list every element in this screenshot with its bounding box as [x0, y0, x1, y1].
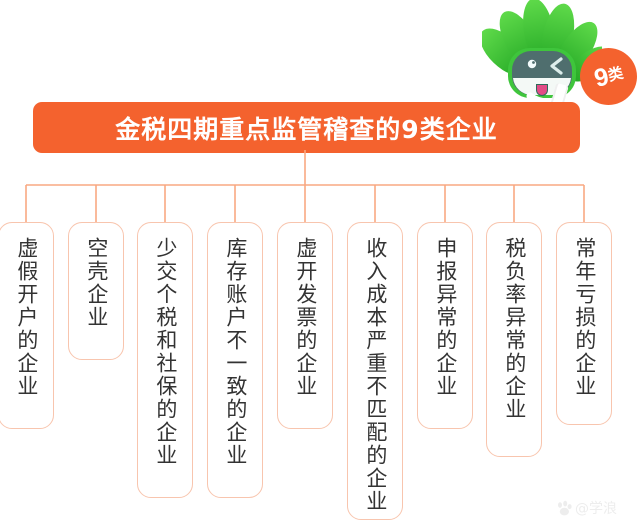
node-box-6[interactable]: 收入成本严重不匹配的企业 [347, 222, 403, 520]
page-title-bar: 金税四期重点监管稽查的9类企业 [33, 102, 580, 153]
paw-logo-icon [556, 500, 573, 517]
node-box-9[interactable]: 常年亏损的企业 [556, 222, 612, 425]
badge-9-categories: 9 类 [574, 42, 640, 111]
node-label-7: 申报异常的企业 [431, 237, 459, 398]
node-box-5[interactable]: 虚开发票的企业 [277, 222, 333, 429]
node-box-3[interactable]: 少交个税和社保的企业 [137, 222, 193, 498]
node-label-9: 常年亏损的企业 [570, 237, 598, 398]
node-label-6: 收入成本严重不匹配的企业 [361, 237, 389, 513]
node-label-2: 空壳企业 [82, 237, 110, 329]
node-box-2[interactable]: 空壳企业 [68, 222, 124, 360]
node-box-8[interactable]: 税负率异常的企业 [486, 222, 542, 457]
node-label-5: 虚开发票的企业 [291, 237, 319, 398]
watermark-text: @学浪 [575, 498, 617, 518]
watermark: @学浪 [556, 498, 632, 518]
node-label-4: 库存账户不一致的企业 [221, 237, 249, 467]
badge-unit: 类 [607, 66, 624, 84]
node-label-3: 少交个税和社保的企业 [151, 237, 179, 467]
connector-lines [0, 150, 640, 230]
infographic-canvas: 9 类 金税四期重点监管稽查的9类企业 虚假开户的企业 空壳企业 少交个税和社保… [0, 0, 640, 531]
node-box-4[interactable]: 库存账户不一致的企业 [207, 222, 263, 498]
node-box-7[interactable]: 申报异常的企业 [417, 222, 473, 429]
node-label-1: 虚假开户的企业 [12, 237, 40, 398]
node-box-1[interactable]: 虚假开户的企业 [0, 222, 54, 429]
node-label-8: 税负率异常的企业 [500, 237, 528, 421]
page-title: 金税四期重点监管稽查的9类企业 [115, 110, 497, 146]
